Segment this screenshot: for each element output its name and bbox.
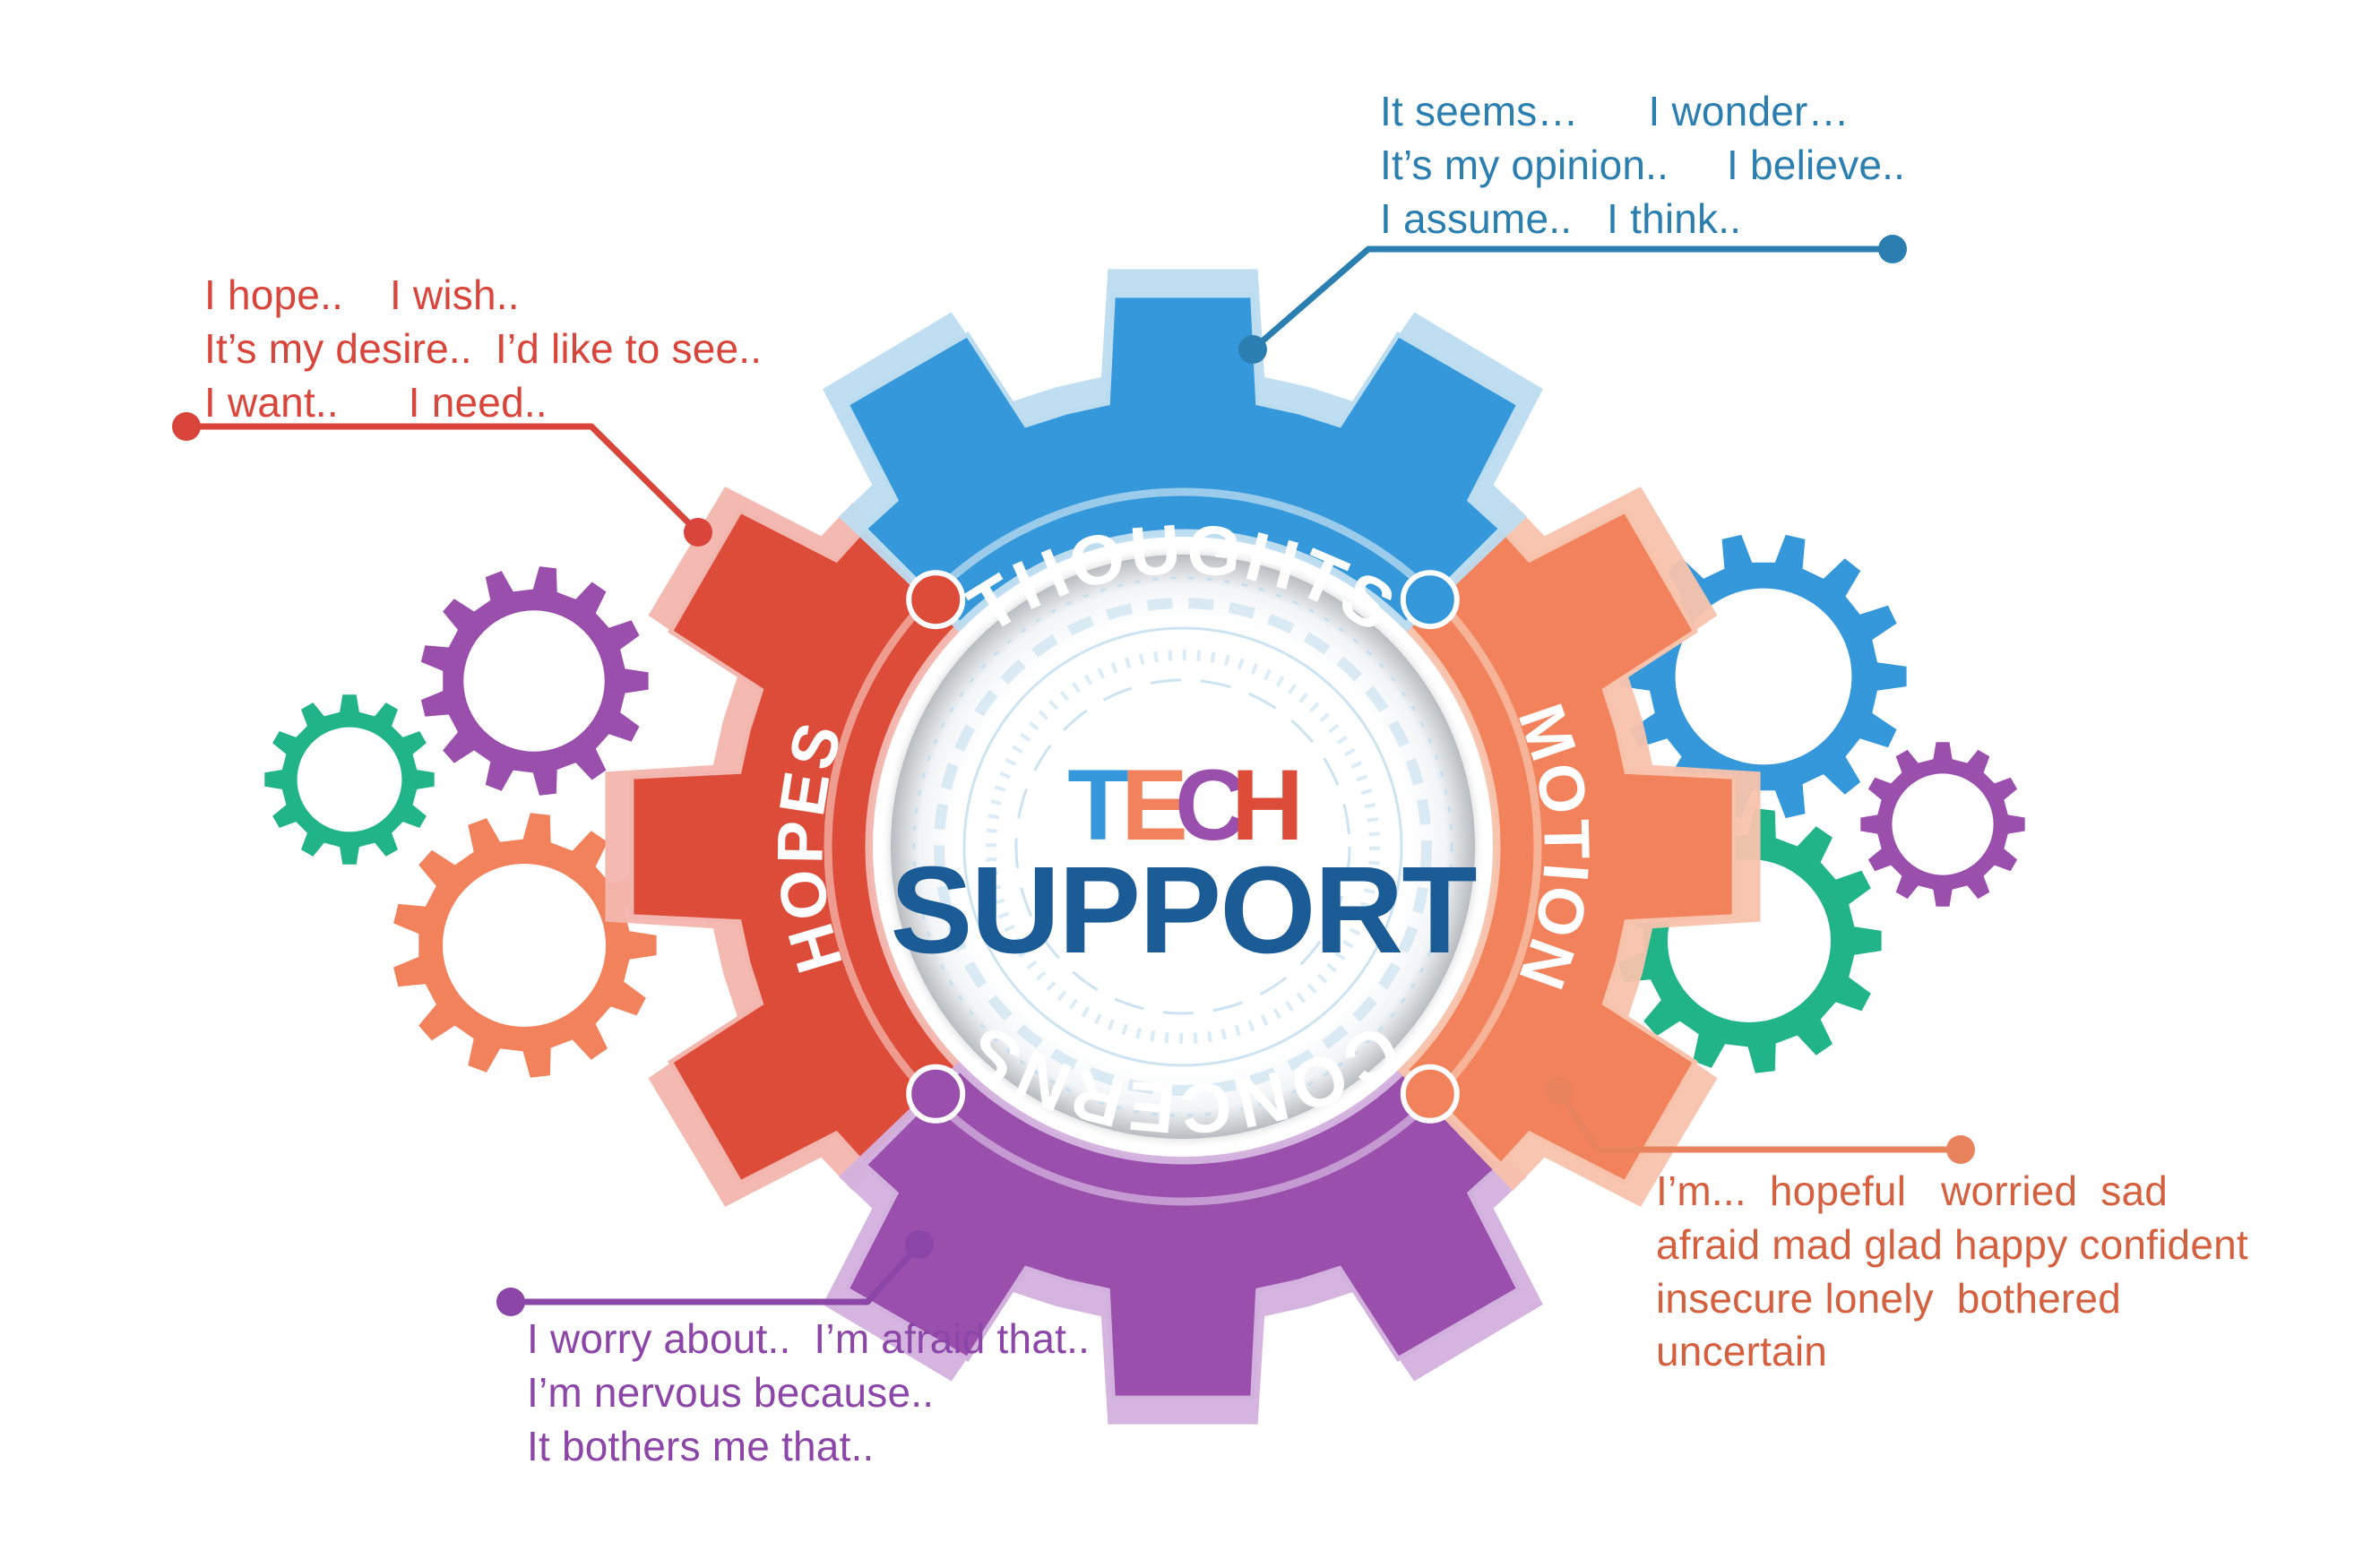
callout-thoughts-line-2: It’s my opinion.. I believe.. — [1380, 139, 1905, 193]
callout-hopes-line-1: I hope.. I wish.. — [204, 269, 762, 323]
connector-endpoint-dot — [1946, 1135, 1975, 1164]
connector-endpoint-dot — [905, 1230, 934, 1259]
callout-concerns-line-1: I worry about.. I’m afraid that.. — [527, 1313, 1090, 1366]
callout-thoughts-line-1: It seems… I wonder… — [1380, 85, 1905, 139]
connector-emotions — [1545, 1076, 1975, 1164]
connector-hopes — [172, 412, 712, 547]
connector-endpoint-dot — [172, 412, 201, 441]
callout-emotions-line-3: insecure lonely bothered — [1656, 1272, 2248, 1326]
connector-concerns — [496, 1230, 934, 1316]
connector-endpoint-dot — [496, 1288, 525, 1316]
callout-concerns-line-3: It bothers me that.. — [527, 1420, 1090, 1474]
callout-emotions: I’m... hopeful worried sadafraid mad gla… — [1656, 1165, 2248, 1379]
callout-thoughts: It seems… I wonder…It’s my opinion.. I b… — [1380, 85, 1905, 246]
connector-thoughts — [1238, 235, 1907, 364]
callout-hopes: I hope.. I wish..It’s my desire.. I’d li… — [204, 269, 762, 429]
callout-hopes-line-2: It’s my desire.. I’d like to see.. — [204, 323, 762, 376]
connector-endpoint-dot — [684, 518, 712, 547]
callout-hopes-line-3: I want.. I need.. — [204, 376, 762, 430]
infographic-canvas: THOUGHTS CONCERNS HOPES EMOTIONS TECHSUP… — [0, 0, 2363, 1568]
callout-concerns: I worry about.. I’m afraid that..I’m ner… — [527, 1313, 1090, 1473]
callout-emotions-line-1: I’m... hopeful worried sad — [1656, 1165, 2248, 1219]
callout-emotions-line-4: uncertain — [1656, 1325, 2248, 1379]
callout-concerns-line-2: I’m nervous because.. — [527, 1366, 1090, 1420]
connector-endpoint-dot — [1238, 335, 1267, 364]
callout-thoughts-line-3: I assume.. I think.. — [1380, 193, 1905, 246]
connector-endpoint-dot — [1545, 1076, 1574, 1105]
callout-emotions-line-2: afraid mad glad happy confident — [1656, 1219, 2248, 1272]
